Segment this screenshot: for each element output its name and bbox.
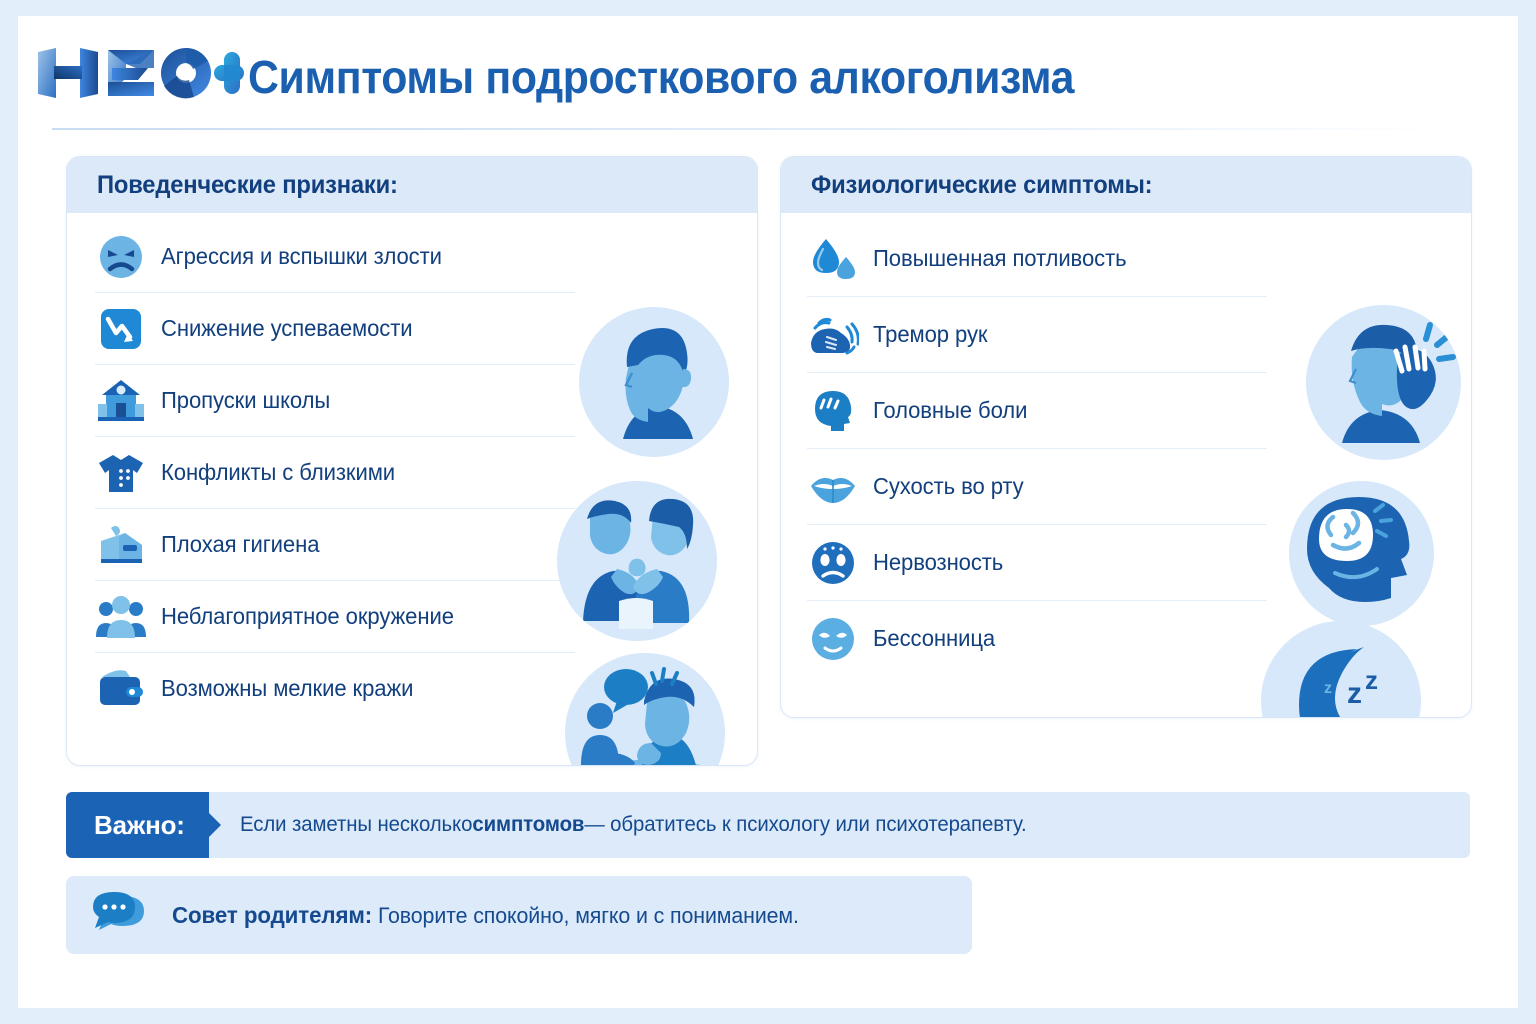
list-item-label: Конфликты с близкими: [161, 459, 395, 486]
list-item[interactable]: Конфликты с близкими: [95, 437, 575, 509]
behavioral-symptom-list: Агрессия и вспышки злости Снижение успев…: [95, 221, 575, 724]
page-title: Симптомы подросткового алкоголизма: [248, 50, 1074, 104]
important-text-before: Если заметны несколько: [240, 813, 472, 837]
list-item[interactable]: Сухость во рту: [807, 449, 1267, 525]
important-badge-label: Важно:: [94, 810, 185, 841]
behavioral-signs-panel: Поведенческие признаки: Агрессия и вспыш…: [66, 156, 758, 766]
list-item[interactable]: Бессонница: [807, 601, 1267, 676]
svg-text:z: z: [1324, 680, 1332, 697]
important-text-after: — обратитесь к психологу или психотерапе…: [584, 813, 1026, 837]
behavioral-panel-title: Поведенческие признаки:: [97, 171, 398, 200]
status-badge: Важно:: [66, 792, 209, 858]
behavioral-panel-header: Поведенческие признаки:: [67, 157, 757, 213]
moon-sleep-illustration: z z z: [1261, 621, 1421, 718]
physiological-symptoms-panel: Физиологические симптомы: Повышенная пот…: [780, 156, 1472, 718]
group-of-people-icon: [95, 591, 147, 643]
physiological-panel-body: Повышенная потливость: [781, 213, 1471, 717]
wallet-icon: [95, 663, 147, 715]
list-item-label: Бессонница: [873, 625, 995, 652]
infographic-page: Симптомы подросткового алкоголизма Повед…: [18, 16, 1518, 1008]
behavioral-panel-body: Агрессия и вспышки злости Снижение успев…: [67, 213, 757, 765]
list-item-label: Нервозность: [873, 549, 1003, 576]
counseling-talk-illustration: [565, 653, 725, 766]
svg-text:z: z: [1365, 665, 1378, 695]
declining-chart-icon: [95, 303, 147, 355]
parents-tip-body: Говорите спокойно, мягко и с пониманием.: [372, 903, 799, 928]
speech-bubbles-icon: [92, 890, 154, 940]
parents-tip-label: Совет родителям:: [172, 902, 372, 928]
list-item-label: Плохая гигиена: [161, 531, 319, 558]
list-item-label: Сухость во рту: [873, 473, 1024, 500]
list-item[interactable]: Нервозность: [807, 525, 1267, 601]
list-item-label: Снижение успеваемости: [161, 315, 413, 342]
important-text-bold: симптомов: [472, 813, 584, 837]
school-building-icon: [95, 375, 147, 427]
list-item[interactable]: Повышенная потливость: [807, 221, 1267, 297]
list-item-label: Повышенная потливость: [873, 245, 1127, 272]
physiological-symptom-list: Повышенная потливость: [807, 221, 1267, 676]
head-brain-illustration: [1289, 481, 1434, 626]
header: Симптомы подросткового алкоголизма: [18, 16, 1518, 126]
arguing-couple-illustration: [557, 481, 717, 641]
list-item-label: Головные боли: [873, 397, 1027, 424]
important-note-text: Если заметны несколько симптомов — обрат…: [209, 792, 1027, 858]
nervous-face-icon: [807, 537, 859, 589]
soap-bar-icon: [95, 519, 147, 571]
sleepless-face-icon: [807, 613, 859, 665]
list-item[interactable]: Пропуски школы: [95, 365, 575, 437]
header-divider: [52, 128, 1452, 130]
angry-face-icon: [95, 231, 147, 283]
physiological-panel-header: Физиологические симптомы:: [781, 157, 1471, 213]
parents-tip-text: Совет родителям: Говорите спокойно, мягк…: [172, 902, 799, 929]
list-item[interactable]: Агрессия и вспышки злости: [95, 221, 575, 293]
list-item[interactable]: Снижение успеваемости: [95, 293, 575, 365]
tshirt-icon: [95, 447, 147, 499]
list-item[interactable]: Головные боли: [807, 373, 1267, 449]
teen-boy-portrait-illustration: [579, 307, 729, 457]
list-item-label: Возможны мелкие кражи: [161, 675, 413, 702]
list-item[interactable]: Плохая гигиена: [95, 509, 575, 581]
list-item[interactable]: Неблагоприятное окружение: [95, 581, 575, 653]
list-item[interactable]: Возможны мелкие кражи: [95, 653, 575, 724]
list-item-label: Тремор рук: [873, 321, 987, 348]
svg-text:z: z: [1347, 677, 1362, 710]
water-drops-icon: [807, 233, 859, 285]
physiological-panel-title: Физиологические симптомы:: [811, 171, 1152, 200]
parents-tip-bar: Совет родителям: Говорите спокойно, мягк…: [66, 876, 972, 954]
important-note-bar: Важно: Если заметны несколько симптомов …: [66, 792, 1470, 858]
list-item[interactable]: Тремор рук: [807, 297, 1267, 373]
neo-plus-logo: [36, 42, 244, 104]
list-item-label: Неблагоприятное окружение: [161, 603, 454, 630]
lips-icon: [807, 461, 859, 513]
shaking-hand-icon: [807, 309, 859, 361]
headache-person-illustration: [1306, 305, 1461, 460]
list-item-label: Пропуски школы: [161, 387, 330, 414]
head-pain-icon: [807, 385, 859, 437]
list-item-label: Агрессия и вспышки злости: [161, 243, 442, 270]
